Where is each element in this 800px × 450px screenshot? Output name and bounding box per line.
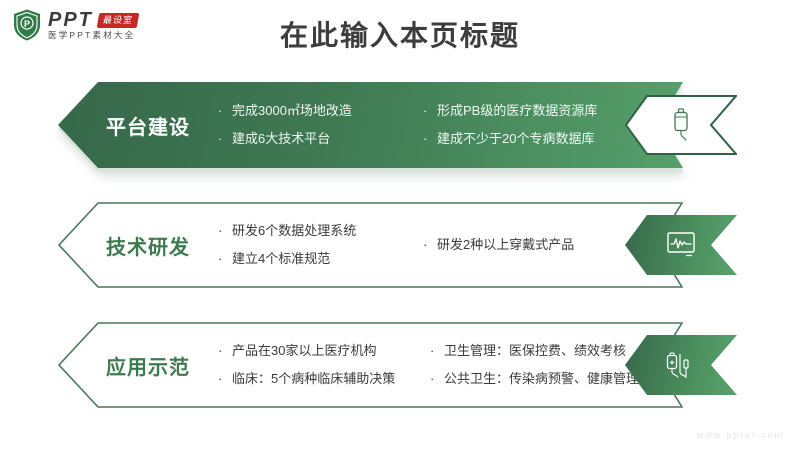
bullet-text: 建立4个标准规范 [232,252,330,267]
bullet-dot: · [430,344,444,359]
band-label: 平台建设 [58,111,218,140]
bullet-text: 研发6个数据处理系统 [232,224,356,239]
icon-badge[interactable] [625,95,737,155]
bullet-dot: · [423,132,437,147]
bullet-item: · 建成6大技术平台 [218,132,423,147]
content-row: 平台建设 · 完成3000㎡场地改造 · 建成6大技术平台 · 形成PB级的医 [0,82,800,168]
bullet-item: · 临床：5个病种临床辅助决策 [218,372,430,387]
bullet-dot: · [218,372,232,387]
content-row: 应用示范 · 产品在30家以上医疗机构 · 临床：5个病种临床辅助决策 · 卫 [0,322,800,408]
bullet-column-a: · 产品在30家以上医疗机构 · 临床：5个病种临床辅助决策 [218,344,430,387]
band-label: 技术研发 [58,231,218,260]
bullet-column-a: · 研发6个数据处理系统 · 建立4个标准规范 [218,224,423,267]
bullet-text: 产品在30家以上医疗机构 [232,344,376,359]
band-application-demo[interactable]: 应用示范 · 产品在30家以上医疗机构 · 临床：5个病种临床辅助决策 · 卫 [58,322,683,408]
bullet-text: 建成6大技术平台 [232,132,330,147]
content-rows: 平台建设 · 完成3000㎡场地改造 · 建成6大技术平台 · 形成PB级的医 [0,82,800,442]
bullet-text: 卫生管理：医保控费、绩效考核 [444,344,626,359]
bullet-item: · 建立4个标准规范 [218,252,423,267]
band-platform-construction[interactable]: 平台建设 · 完成3000㎡场地改造 · 建成6大技术平台 · 形成PB级的医 [58,82,683,168]
bullet-text: 建成不少于20个专病数据库 [437,132,594,147]
bullet-column-a: · 完成3000㎡场地改造 · 建成6大技术平台 [218,104,423,147]
bullet-text: 形成PB级的医疗数据资源库 [437,104,597,119]
bullet-text: 研发2种以上穿戴式产品 [437,238,574,253]
bullet-text: 临床：5个病种临床辅助决策 [232,372,395,387]
bullet-item: · 研发6个数据处理系统 [218,224,423,239]
bullet-dot: · [218,344,232,359]
bullet-item: · 产品在30家以上医疗机构 [218,344,430,359]
blood-bag-icon [666,350,696,380]
bullet-dot: · [218,224,232,239]
content-row: 技术研发 · 研发6个数据处理系统 · 建立4个标准规范 · 研发2种以上穿戴 [0,202,800,288]
bullet-dot: · [218,252,232,267]
bullet-dot: · [218,104,232,119]
bullet-item: · 完成3000㎡场地改造 [218,104,423,119]
ecg-monitor-icon [666,231,696,259]
band-label: 应用示范 [58,351,218,380]
bullet-dot: · [218,132,232,147]
bullet-dot: · [430,372,444,387]
site-watermark: www.ppter.com [697,430,784,440]
bullet-text: 完成3000㎡场地改造 [232,104,352,119]
icon-badge[interactable] [625,335,737,395]
iv-drip-icon [668,108,694,142]
page-title: 在此输入本页标题 [0,14,800,54]
bullet-dot: · [423,104,437,119]
bullet-text: 公共卫生：传染病预警、健康管理 [444,372,639,387]
band-technology-rnd[interactable]: 技术研发 · 研发6个数据处理系统 · 建立4个标准规范 · 研发2种以上穿戴 [58,202,683,288]
bullet-dot: · [423,238,437,253]
icon-badge[interactable] [625,215,737,275]
